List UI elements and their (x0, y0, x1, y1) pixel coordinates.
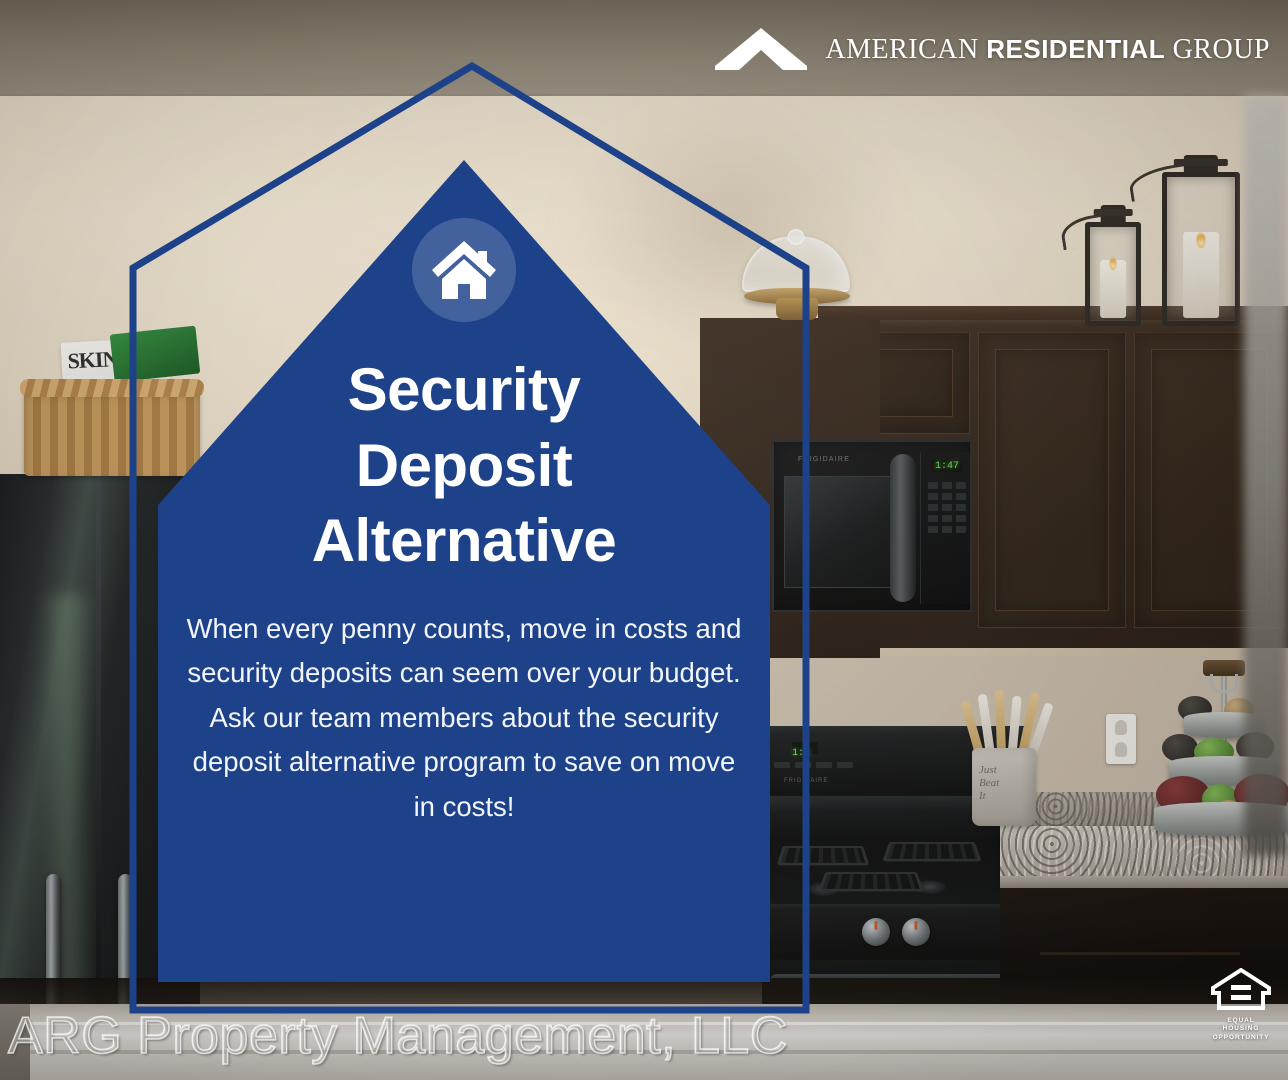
brand-word-residential: RESIDENTIAL (986, 34, 1165, 64)
poster-canvas: SKINNY FRIGIDAIRE 1:47 1:5 (0, 0, 1288, 1080)
american-residential-group-logo: AMERICAN RESIDENTIAL GROUP (713, 26, 1270, 72)
brand-word-american: AMERICAN (825, 34, 978, 65)
equal-housing-opportunity-logo: EQUAL HOUSING OPPORTUNITY (1208, 968, 1274, 1043)
chevron-roof-icon (713, 26, 809, 72)
headline-line-3: Alternative (192, 503, 736, 579)
headline-line-1: Security (192, 352, 736, 428)
headline-line-2: Deposit (192, 428, 736, 504)
eho-line-1: EQUAL HOUSING (1208, 1017, 1274, 1034)
body-paragraph: When every penny counts, move in costs a… (184, 607, 744, 830)
home-icon (428, 237, 500, 303)
card-content: Security Deposit Alternative When every … (158, 160, 770, 982)
page-title: Security Deposit Alternative (192, 352, 736, 579)
watermark-caption: ARG Property Management, LLC (8, 1006, 788, 1066)
brand-wordmark: AMERICAN RESIDENTIAL GROUP (825, 33, 1270, 66)
home-icon-badge (412, 218, 516, 322)
brand-word-group: GROUP (1173, 34, 1270, 65)
eho-line-2: OPPORTUNITY (1208, 1034, 1274, 1043)
equal-housing-icon (1211, 968, 1271, 1010)
